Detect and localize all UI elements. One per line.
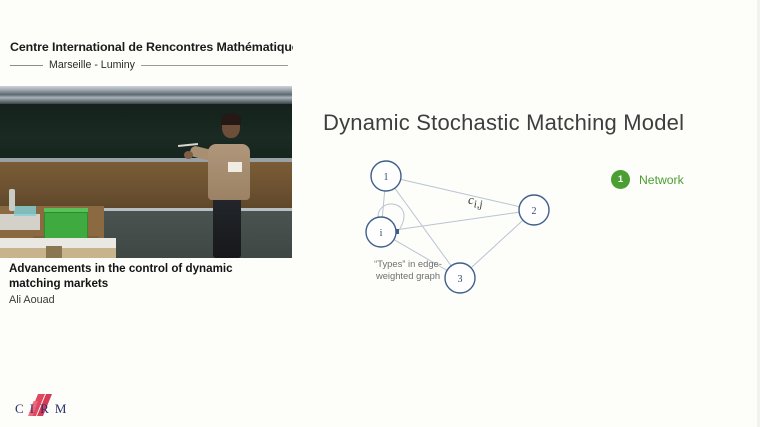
cirm-logo: C I R M xyxy=(14,392,84,418)
speaker-hand xyxy=(184,151,193,159)
bench-leg xyxy=(46,246,62,258)
graph-caption-line-2: weighted graph xyxy=(376,270,440,281)
papers-stack-2 xyxy=(14,206,36,216)
talk-author: Ali Aouad xyxy=(9,294,284,306)
graph-caption-line-1: “Types” in edge- xyxy=(374,258,442,269)
location-row: Marseille - Luminy xyxy=(10,59,288,71)
edge-1-2 xyxy=(386,176,534,210)
papers-stack xyxy=(0,214,40,230)
graph-caption: “Types” in edge- weighted graph xyxy=(356,258,460,283)
cirm-branding-header: Centre International de Rencontres Mathé… xyxy=(10,40,292,71)
graph-svg: 1 2 3 i xyxy=(348,148,568,308)
node-2[interactable]: 2 xyxy=(519,195,549,225)
legend-number-badge: 1 xyxy=(611,170,630,189)
institute-location: Marseille - Luminy xyxy=(49,59,135,71)
edge-weight-label: ci,j xyxy=(468,192,483,211)
talk-info: Advancements in the control of dynamic m… xyxy=(9,261,284,306)
speaker-hair xyxy=(221,113,241,125)
edge-weight-subscript: i,j xyxy=(474,199,483,211)
speaker-badge xyxy=(228,162,242,172)
node-1-label: 1 xyxy=(384,172,389,183)
legend-label-network: Network xyxy=(639,173,684,187)
node-i[interactable]: i xyxy=(366,217,396,247)
talk-title: Advancements in the control of dynamic m… xyxy=(9,261,284,292)
slide-title: Dynamic Stochastic Matching Model xyxy=(323,110,684,136)
talk-title-line-1: Advancements in the control of dynamic xyxy=(9,262,233,275)
talk-title-line-2: matching markets xyxy=(9,277,108,290)
node-1[interactable]: 1 xyxy=(371,161,401,191)
water-bottle xyxy=(9,189,15,211)
speaker-torso xyxy=(208,144,250,200)
presentation-page: Centre International de Rencontres Mathé… xyxy=(0,0,760,427)
rule-right xyxy=(141,65,288,66)
cirm-logo-svg: C I R M xyxy=(14,392,84,418)
node-2-label: 2 xyxy=(532,206,537,217)
speaker-video-still[interactable] xyxy=(0,86,292,258)
ceiling-panels xyxy=(0,86,292,104)
speaker-legs xyxy=(213,196,241,258)
node-i-label: i xyxy=(380,228,383,239)
logo-wordmark: C I R M xyxy=(15,401,68,416)
institute-name: Centre International de Rencontres Mathé… xyxy=(10,40,292,54)
matching-graph: 1 2 3 i xyxy=(348,148,568,308)
slide-area: Dynamic Stochastic Matching Model 1 xyxy=(293,0,760,427)
rule-left xyxy=(10,65,43,66)
legend-item-network: 1 Network xyxy=(611,170,684,189)
